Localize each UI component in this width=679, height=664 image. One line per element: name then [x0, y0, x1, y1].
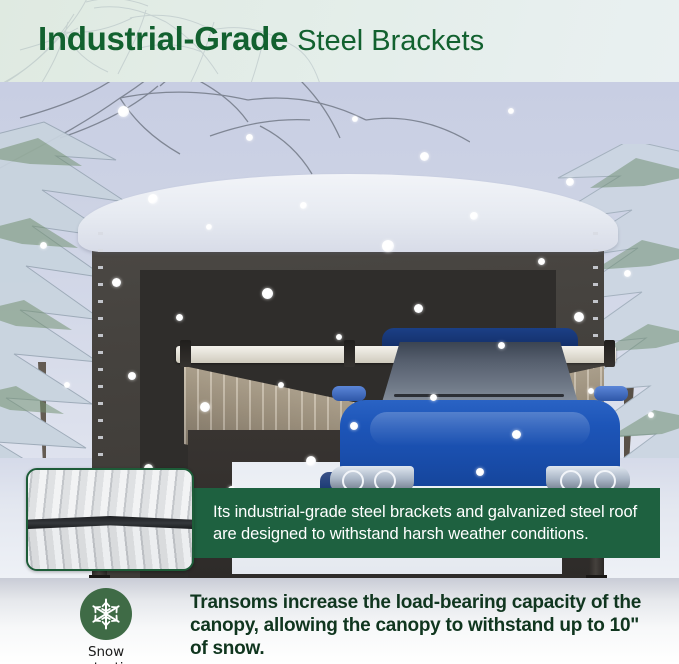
car-wiper	[394, 394, 564, 397]
product-feature-image: Industrial-GradeSteel Brackets	[0, 0, 679, 664]
feature-callout-banner: Its industrial-grade steel brackets and …	[193, 488, 660, 558]
roof-panel-ribs	[26, 470, 194, 522]
snowflake-icon	[89, 597, 123, 631]
snow-cap	[78, 174, 618, 252]
snow-protection-label: Snow protection	[52, 644, 160, 664]
badge-circle	[80, 588, 132, 640]
car-mirror	[594, 386, 628, 401]
bottom-description-text: Transoms increase the load-bearing capac…	[190, 591, 660, 660]
title-emphasis: Industrial-Grade	[38, 20, 288, 57]
bottom-info-band: Snow protection Transoms increase the lo…	[0, 578, 679, 664]
steel-bracket-icon	[180, 340, 191, 367]
header-band: Industrial-GradeSteel Brackets	[0, 0, 679, 82]
title-subject: Steel Brackets	[297, 25, 484, 57]
steel-roof-inset-photo	[26, 468, 194, 571]
car-mirror	[332, 386, 366, 401]
roof-panel-ribs	[26, 523, 194, 569]
callout-text: Its industrial-grade steel brackets and …	[193, 501, 660, 545]
snow-protection-badge: Snow protection	[52, 588, 160, 664]
page-title: Industrial-GradeSteel Brackets	[38, 22, 484, 56]
